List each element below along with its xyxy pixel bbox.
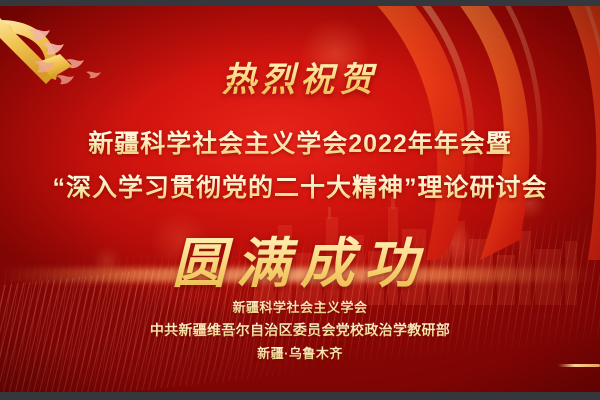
credit-organization: 新疆科学社会主义学会 bbox=[0, 297, 600, 316]
bottom-chrome-bar bbox=[0, 392, 600, 400]
rejoice-heading: 热烈祝贺 bbox=[0, 52, 600, 101]
congratulation-poster: 热烈祝贺 新疆科学社会主义学会2022年年会暨 “深入学习贯彻党的二十大精神”理… bbox=[0, 0, 600, 400]
event-title-line-2: “深入学习贯彻党的二十大精神”理论研讨会 bbox=[0, 168, 600, 204]
poster-text-content: 热烈祝贺 新疆科学社会主义学会2022年年会暨 “深入学习贯彻党的二十大精神”理… bbox=[0, 0, 600, 400]
credit-location: 新疆·乌鲁木齐 bbox=[0, 343, 600, 362]
top-chrome-bar bbox=[0, 0, 600, 6]
credit-department: 中共新疆维吾尔自治区委员会党校政治学教研部 bbox=[0, 320, 600, 340]
success-heading: 圆满成功 bbox=[0, 219, 600, 298]
event-title-line-1: 新疆科学社会主义学会2022年年会暨 bbox=[0, 124, 600, 160]
